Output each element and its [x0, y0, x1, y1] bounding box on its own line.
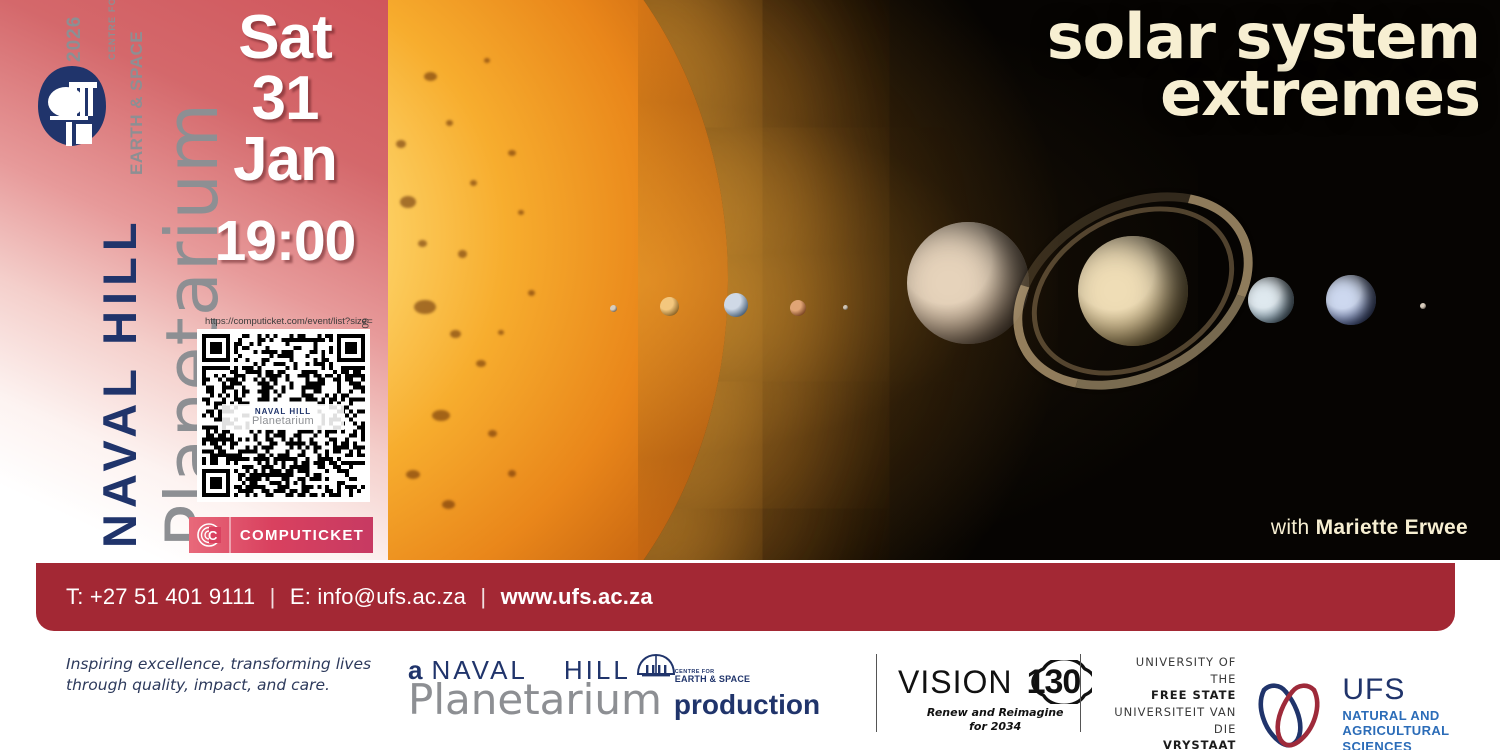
sunspot: [488, 430, 497, 437]
planet-neptune: [1326, 275, 1376, 325]
ufs-name-line: UNIVERSITEIT VAN DIE: [1106, 704, 1236, 737]
vision-subtitle: Renew and Reimagine for 2034: [898, 706, 1092, 734]
planet-venus: [660, 297, 679, 316]
brand-centre-for: CENTRE FOR: [107, 0, 117, 60]
sunspot: [528, 290, 535, 296]
production-word: production: [674, 691, 820, 719]
vision-word: VISION: [898, 664, 1012, 701]
sunspot: [508, 150, 516, 156]
planetarium-dome-icon: [36, 62, 108, 148]
production-dome-icon: [633, 652, 679, 687]
presenter-prefix: with: [1271, 516, 1310, 539]
planet-mars: [790, 300, 806, 316]
sunspot: [414, 300, 436, 314]
event-time: 19:00: [190, 214, 380, 270]
computicket-label: COMPUTICKET: [231, 527, 373, 544]
planet-uranus: [1248, 277, 1294, 323]
ufs-faculty-line-1: NATURAL AND: [1342, 708, 1500, 724]
presenter-name: Mariette Erwee: [1316, 516, 1468, 539]
vision-sub-line-1: Renew and Reimagine: [898, 706, 1092, 720]
brand-naval-hill: NAVAL HILL: [92, 216, 147, 548]
presenter-credit: with Mariette Erwee: [1271, 516, 1468, 540]
event-month: Jan: [190, 130, 380, 191]
sunspot: [442, 500, 455, 509]
sunspot: [424, 72, 437, 81]
ufs-name-lines: UNIVERSITY OF THEFREE STATEUNIVERSITEIT …: [1106, 654, 1236, 750]
ufs-name-line: FREE STATE: [1106, 687, 1236, 704]
space-artwork: solar system extremes with Mariette Erwe…: [388, 0, 1500, 560]
vision-130-logo: VISION 130 Renew and Reimagine for 2034: [898, 660, 1092, 734]
ufs-abbreviation: UFS: [1342, 673, 1500, 708]
sunspot: [476, 360, 486, 367]
ticket-url-top: https://computicket.com/event/list?size=: [205, 316, 373, 327]
sunspot: [396, 140, 406, 148]
phone-label: T:: [66, 584, 84, 609]
planet-jupiter: [907, 222, 1029, 344]
tagline-line-1: Inspiring excellence, transforming lives: [66, 654, 386, 675]
poster-root: solar system extremes with Mariette Erwe…: [0, 0, 1500, 750]
planet-earth: [724, 293, 748, 317]
sunspot: [446, 120, 453, 126]
ufs-text-block: UFS NATURAL AND AGRICULTURAL SCIENCES NA…: [1342, 673, 1500, 750]
page-title: solar system extremes: [1047, 8, 1480, 122]
sunspot: [508, 470, 516, 477]
planet-saturn: [1078, 236, 1188, 346]
production-planetarium: Planetarium: [408, 679, 662, 721]
event-date-block: Sat 31 Jan 19:00: [190, 8, 380, 270]
sunspot: [432, 410, 450, 421]
contact-text: T: +27 51 401 9111 | E: info@ufs.ac.za |…: [66, 584, 653, 610]
sunspot: [484, 58, 490, 63]
planet-ceres: [843, 305, 848, 310]
computicket-button[interactable]: C COMPUTICKET: [189, 517, 373, 553]
email-value[interactable]: info@ufs.ac.za: [317, 584, 466, 609]
ufs-faculty-line-2: AGRICULTURAL SCIENCES: [1342, 723, 1500, 750]
event-day-name: Sat: [190, 8, 380, 69]
sunspot: [450, 330, 461, 338]
branding-panel: 2026 CENTRE FOR EARTH & SPACE NAVAL HILL…: [0, 0, 388, 560]
production-credit: a NAVAL HILL CENTRE FOR: [408, 653, 820, 721]
contact-bar: T: +27 51 401 9111 | E: info@ufs.ac.za |…: [36, 563, 1455, 631]
hero-section: solar system extremes with Mariette Erwe…: [0, 0, 1500, 560]
ufs-v-mark-icon: [1250, 680, 1328, 750]
sunspot: [418, 240, 427, 247]
tagline-line-2: through quality, impact, and care.: [66, 675, 386, 696]
ufs-name-line: UNIVERSITY OF THE: [1106, 654, 1236, 687]
footer-divider-1: [876, 654, 877, 732]
contact-separator-2: |: [472, 584, 494, 609]
sunspot: [518, 210, 524, 215]
ufs-name-line: VRYSTAAT: [1106, 737, 1236, 750]
sunspot: [498, 330, 504, 335]
computicket-c-icon: C: [189, 517, 229, 553]
qr-center-logo: NAVAL HILL Planetarium: [222, 404, 344, 430]
sunspot: [458, 250, 467, 258]
ufs-tagline: Inspiring excellence, transforming lives…: [66, 654, 386, 696]
footer-divider-2: [1080, 654, 1081, 732]
event-day-number: 31: [190, 69, 380, 130]
sunspot: [406, 470, 420, 479]
planet-mercury: [610, 305, 617, 312]
brand-earth-space: EARTH & SPACE: [127, 31, 147, 175]
footer-section: Inspiring excellence, transforming lives…: [0, 640, 1500, 750]
svg-text:C: C: [208, 528, 218, 543]
brand-year: 2026: [64, 16, 86, 62]
title-line-2: extremes: [1047, 65, 1480, 122]
phone-value[interactable]: +27 51 401 9111: [90, 584, 256, 609]
sunspot: [400, 196, 416, 208]
email-label: E:: [290, 584, 311, 609]
ufs-logo: UNIVERSITY OF THEFREE STATEUNIVERSITEIT …: [1106, 654, 1500, 750]
planet-pluto: [1420, 303, 1426, 309]
qr-label-line-2: Planetarium: [252, 416, 314, 427]
production-badge-earth-space: EARTH & SPACE: [675, 675, 750, 685]
contact-separator-1: |: [262, 584, 284, 609]
website-link[interactable]: www.ufs.ac.za: [501, 584, 653, 609]
vision-sub-line-2: for 2034: [898, 720, 1092, 734]
sunspot: [470, 180, 477, 186]
